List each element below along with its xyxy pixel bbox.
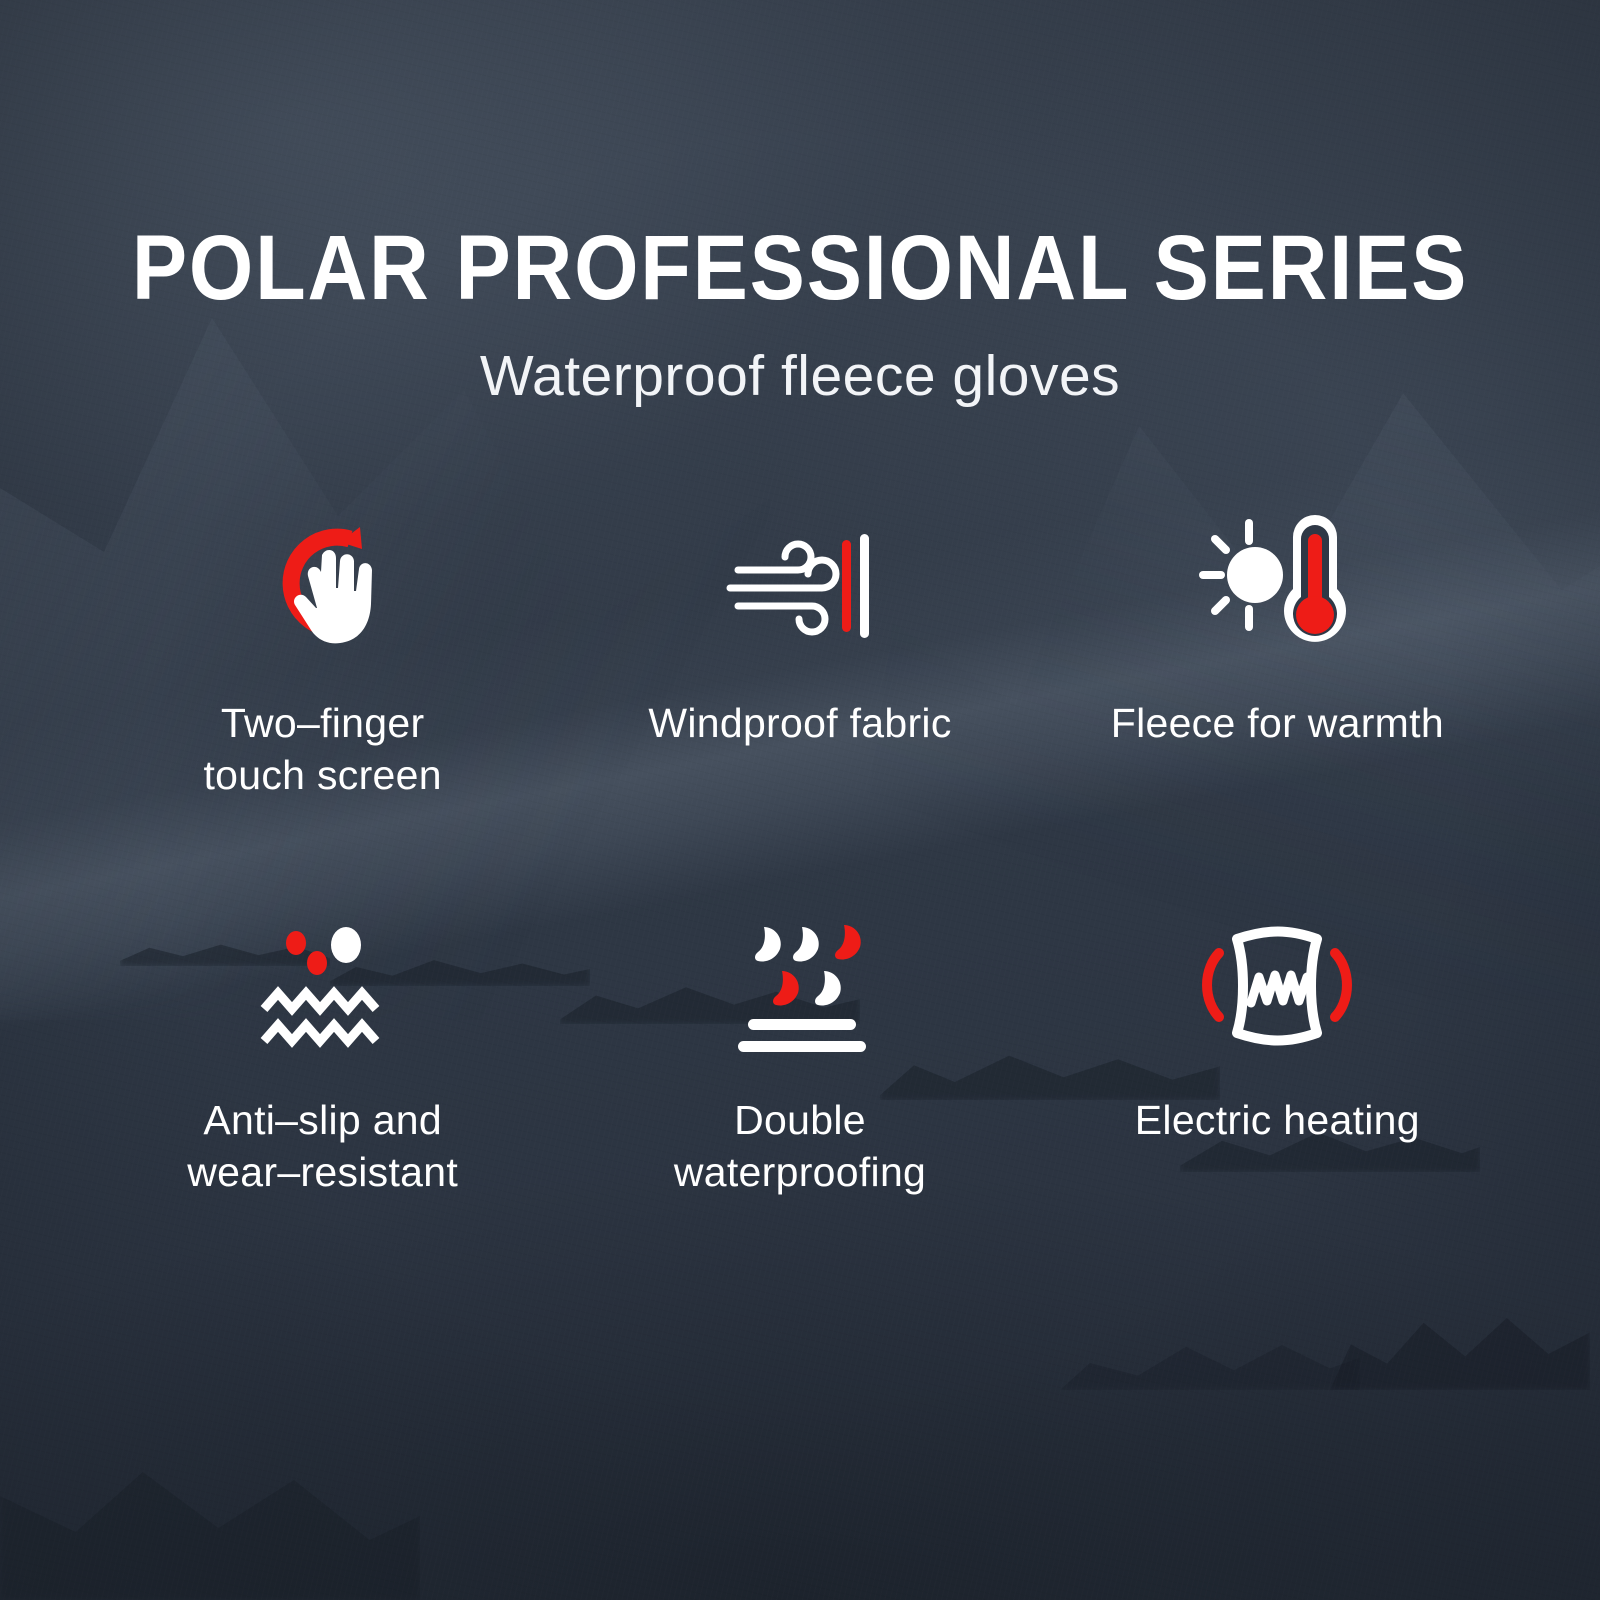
rock-shape: [0, 1400, 420, 1600]
feature-label: Electric heating: [1135, 1094, 1420, 1146]
feature-label: Two–finger touch screen: [203, 697, 441, 802]
feature-item-touch-screen: Two–finger touch screen: [84, 509, 561, 802]
page-subtitle: Waterproof fleece gloves: [0, 348, 1600, 405]
heating-element-icon: [1197, 910, 1357, 1060]
rock-shape: [1060, 1300, 1360, 1390]
sun-thermometer-icon: [1197, 509, 1357, 659]
feature-item-double-waterproofing: Double waterproofing: [561, 910, 1038, 1199]
feature-item-windproof: Windproof fabric: [561, 509, 1038, 802]
wind-barrier-icon: [720, 509, 880, 659]
poster-header: POLAR PROFESSIONAL SERIES Waterproof fle…: [0, 0, 1600, 405]
feature-label: Windproof fabric: [648, 697, 951, 749]
page-title: POLAR PROFESSIONAL SERIES: [80, 222, 1520, 314]
water-droplets-layers-icon: [720, 910, 880, 1060]
zigzag-grip-icon: [248, 910, 398, 1060]
hand-touchscreen-icon: [248, 509, 398, 659]
product-feature-poster: POLAR PROFESSIONAL SERIES Waterproof fle…: [0, 0, 1600, 1600]
rock-shape: [1330, 1270, 1590, 1390]
feature-grid: Two–finger touch screen: [0, 509, 1600, 1199]
feature-item-fleece-warmth: Fleece for warmth: [1039, 509, 1516, 802]
feature-label: Fleece for warmth: [1111, 697, 1444, 749]
feature-label: Anti–slip and wear–resistant: [187, 1094, 458, 1199]
feature-item-electric-heating: Electric heating: [1039, 910, 1516, 1199]
feature-item-anti-slip: Anti–slip and wear–resistant: [84, 910, 561, 1199]
feature-label: Double waterproofing: [674, 1094, 926, 1199]
